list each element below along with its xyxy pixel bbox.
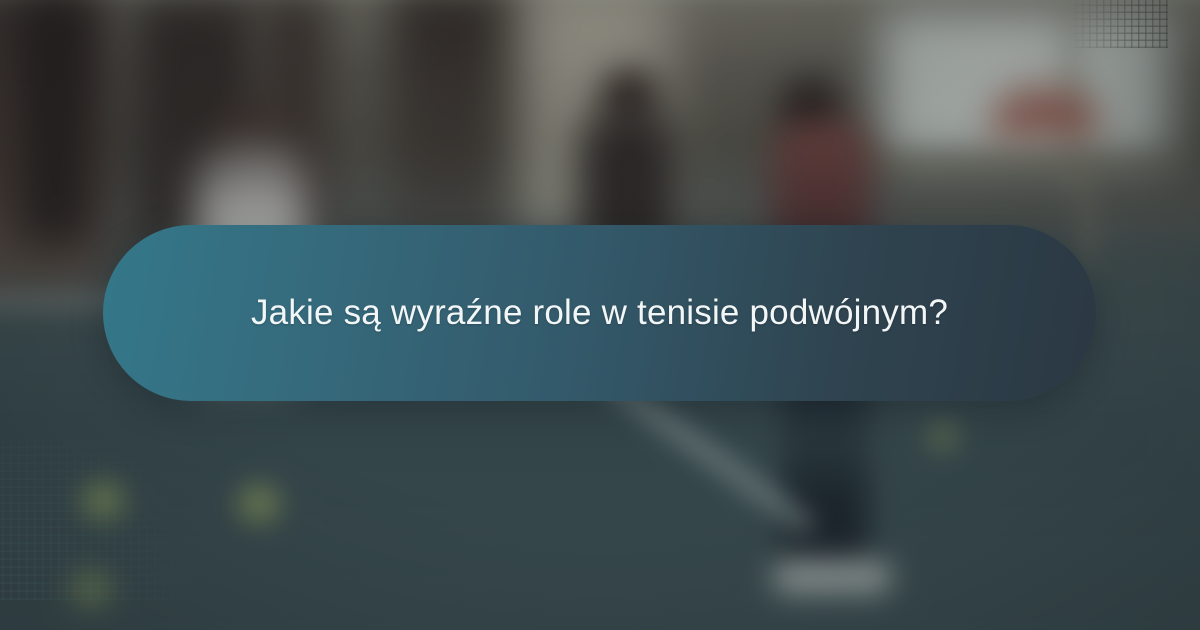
headline-pill: Jakie są wyraźne role w tenisie podwójny… [103, 225, 1096, 401]
page-title: Jakie są wyraźne role w tenisie podwójny… [251, 292, 948, 334]
share-card: Jakie są wyraźne role w tenisie podwójny… [0, 0, 1200, 630]
